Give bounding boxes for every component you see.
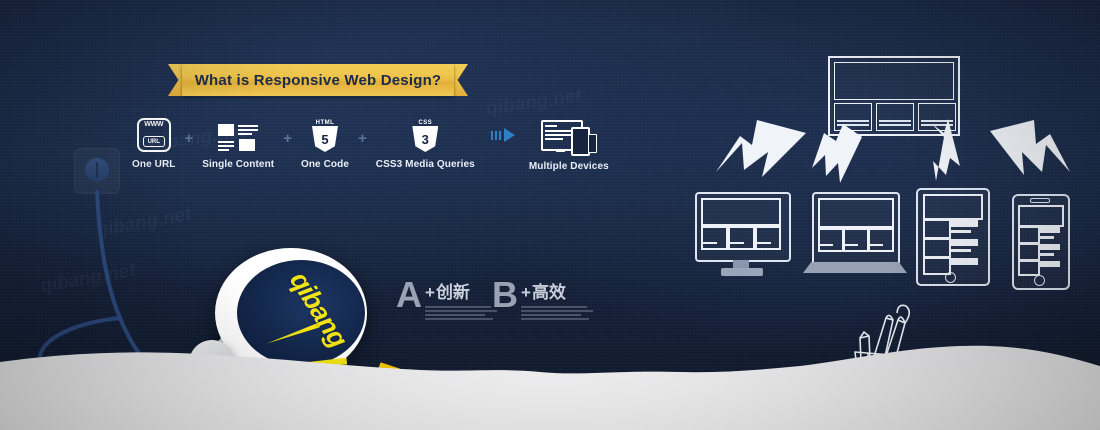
device-hero-region [923,194,983,220]
feature-strip: WWW URL One URL + Single C [132,118,609,172]
watermark: qibang.net [485,85,583,120]
highlight-plus: + [521,283,531,303]
device-hero-region [818,198,894,228]
ground-surface [0,310,1100,430]
feature-single-content: Single Content [202,118,274,170]
css-version: 3 [412,132,438,147]
highlight-text: 高效 [532,278,566,303]
result-label: Multiple Devices [529,161,609,172]
device-smartphone [1012,194,1068,288]
flow-arrow-icon [491,128,515,142]
multiple-devices-icon [541,120,597,154]
monitor-stand [721,268,763,276]
plus-separator: + [358,130,367,147]
html-tag-label: HTML [312,120,338,126]
device-tablet [916,188,988,284]
www-url-icon: WWW URL [137,118,171,152]
feature-css3-media-queries: CSS 3 CSS3 Media Queries [376,118,475,170]
watermark: qibang.net [39,260,137,298]
wireframe-hero [834,62,954,100]
phone-speaker [1030,198,1050,203]
feature-label: One Code [301,159,349,170]
css3-shield-icon: CSS 3 [412,118,438,152]
feature-label: One URL [132,159,175,170]
feature-label: Single Content [202,159,274,170]
html-version: 5 [312,132,338,147]
plug-icon [85,158,109,182]
highlight-plus: + [425,283,435,303]
device-desktop-monitor [695,192,791,284]
highlight-letter: A [396,278,422,311]
feature-one-url: WWW URL One URL [132,118,175,170]
device-hero-region [701,198,781,226]
feature-label: CSS3 Media Queries [376,159,475,170]
css-tag-label: CSS [412,120,438,126]
plus-separator: + [184,130,193,147]
highlight-letter: B [492,278,518,311]
laptop-keyboard-deck [803,262,907,273]
feature-one-code: HTML 5 One Code [301,118,349,170]
device-hero-region [1018,205,1064,227]
phone-home-button [1034,275,1045,286]
wireframe-column [834,103,872,131]
ribbon-title: What is Responsive Web Design? [168,64,468,96]
plus-separator: + [283,130,292,147]
tablet-home-button [945,272,956,283]
watermark: qibang.net [95,204,193,242]
www-label: WWW [139,121,169,128]
wall-socket-icon [74,148,120,194]
html5-shield-icon: HTML 5 [312,118,338,152]
feature-multiple-devices: Multiple Devices [529,120,609,172]
highlight-text: 创新 [436,278,470,303]
wireframe-column [918,103,956,131]
single-content-icon [218,118,258,152]
url-pill: URL [143,136,165,147]
hero-banner: qibang.net qibang.net qibang.net qibang.… [0,0,1100,430]
device-laptop [803,192,907,284]
responsive-layout-wireframe [828,56,960,136]
wireframe-column [876,103,914,131]
ribbon-banner: What is Responsive Web Design? [168,64,468,96]
